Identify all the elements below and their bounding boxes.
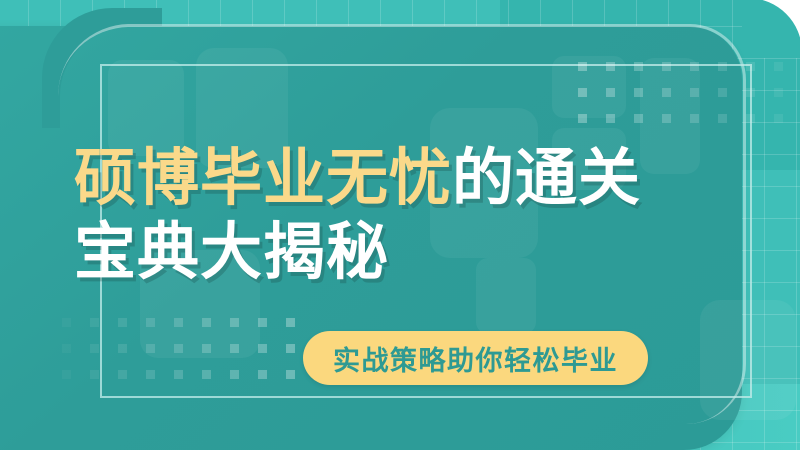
dot-row (578, 62, 800, 71)
dot (230, 344, 239, 353)
dot (286, 344, 295, 353)
dot (258, 318, 267, 327)
dot (746, 62, 755, 71)
dot (718, 114, 727, 123)
dot (258, 344, 267, 353)
dot (606, 62, 615, 71)
dot (118, 370, 127, 379)
headline-line-1: 硕博毕业无忧的通关 (74, 142, 734, 216)
dot (90, 318, 99, 327)
dot (606, 114, 615, 123)
dot (746, 114, 755, 123)
dot (146, 370, 155, 379)
dot-row (62, 344, 295, 353)
dot (118, 344, 127, 353)
headline-plain-text: 的通关 (452, 144, 641, 213)
dot (662, 62, 671, 71)
poster-canvas: 硕博毕业无忧的通关 宝典大揭秘 实战策略助你轻松毕业 (0, 0, 800, 450)
dot (606, 88, 615, 97)
dot (286, 370, 295, 379)
dot-matrix-bottom-left (62, 318, 295, 396)
headline-line-2: 宝典大揭秘 (74, 216, 734, 290)
dot (634, 114, 643, 123)
dot (774, 114, 783, 123)
dot (258, 370, 267, 379)
dot (174, 318, 183, 327)
dot (62, 318, 71, 327)
dot (286, 318, 295, 327)
dot (774, 88, 783, 97)
page-title: 硕博毕业无忧的通关 宝典大揭秘 (74, 142, 734, 290)
headline-accent-text: 硕博毕业无忧 (74, 144, 452, 213)
dot (662, 114, 671, 123)
dot (634, 88, 643, 97)
dot (202, 318, 211, 327)
dot (62, 344, 71, 353)
dot (174, 370, 183, 379)
dot (662, 88, 671, 97)
dot (202, 370, 211, 379)
dot-row (578, 114, 800, 123)
dot (718, 62, 727, 71)
dot (690, 114, 699, 123)
dot-row (62, 370, 295, 379)
dot (118, 318, 127, 327)
dot (90, 344, 99, 353)
watermark-shape (700, 300, 796, 420)
dot (90, 370, 99, 379)
dot (146, 318, 155, 327)
dot (578, 114, 587, 123)
dot (230, 318, 239, 327)
dot (578, 62, 587, 71)
dot (146, 344, 155, 353)
dot (202, 344, 211, 353)
subtitle-badge-label: 实战策略助你轻松毕业 (333, 339, 618, 378)
dot (690, 62, 699, 71)
dot (174, 344, 183, 353)
dot (718, 88, 727, 97)
top-right-corner-notch (742, 0, 800, 58)
dot (230, 370, 239, 379)
dot (690, 88, 699, 97)
dot-row (62, 318, 295, 327)
dot-row (578, 88, 800, 97)
dot (774, 62, 783, 71)
dot-matrix-top-right (578, 62, 800, 140)
subtitle-badge: 实战策略助你轻松毕业 (303, 331, 648, 385)
dot (62, 370, 71, 379)
dot (746, 88, 755, 97)
dot (578, 88, 587, 97)
dot (634, 62, 643, 71)
